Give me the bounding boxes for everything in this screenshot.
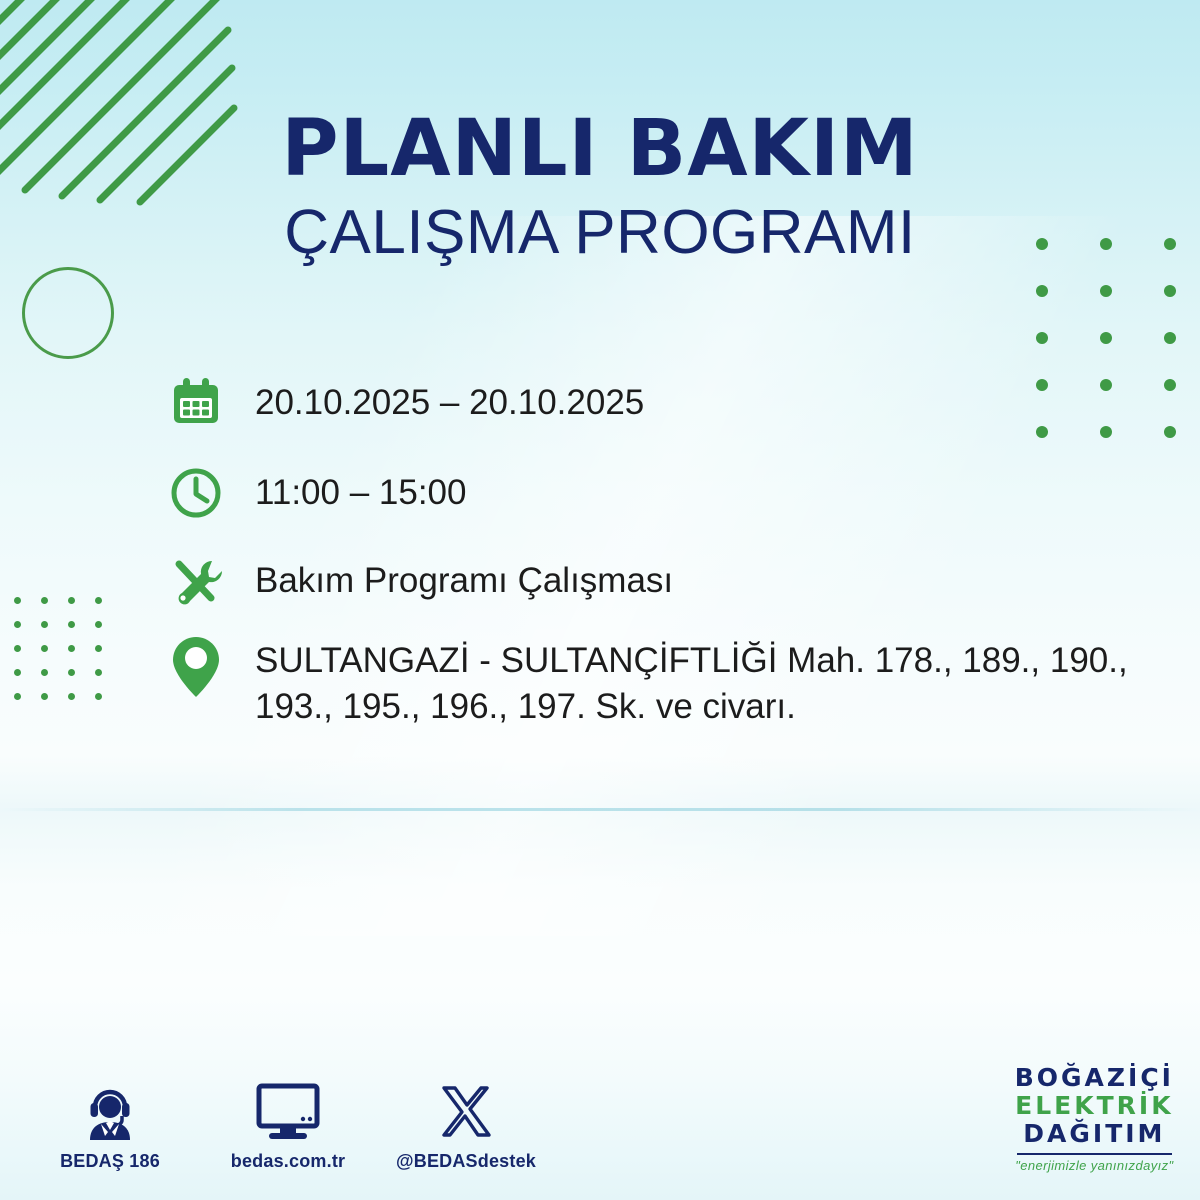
x-twitter-icon: [396, 1079, 536, 1141]
tools-icon: [165, 550, 227, 612]
monitor-icon: [218, 1079, 358, 1141]
detail-location-text: SULTANGAZİ - SULTANÇİFTLİĞİ Mah. 178., 1…: [255, 632, 1175, 729]
contact-website[interactable]: bedas.com.tr: [218, 1079, 358, 1172]
location-pin-icon: [165, 632, 227, 702]
contact-social-x[interactable]: @BEDASdestek: [396, 1079, 536, 1172]
detail-row-time: 11:00 – 15:00: [165, 462, 1175, 524]
planned-maintenance-poster: PLANLI BAKIM ÇALIŞMA PROGRAMI: [0, 0, 1200, 1200]
contact-website-label: bedas.com.tr: [218, 1151, 358, 1172]
clock-icon: [165, 462, 227, 524]
logo-line-dagitim: DAĞITIM: [1015, 1121, 1174, 1146]
detail-row-date: 20.10.2025 – 20.10.2025: [165, 372, 1175, 434]
calendar-icon: [165, 372, 227, 434]
footer-contacts: BEDAŞ 186 bedas.com.tr @BEDASdestek: [40, 1079, 536, 1172]
contact-call-center[interactable]: BEDAŞ 186: [40, 1079, 180, 1172]
dot-grid-left-decoration: [14, 597, 122, 717]
detail-date-text: 20.10.2025 – 20.10.2025: [255, 372, 644, 426]
background-divider-band: [0, 808, 1200, 811]
detail-time-text: 11:00 – 15:00: [255, 462, 467, 516]
contact-social-x-label: @BEDASdestek: [396, 1151, 536, 1172]
page-title: PLANLI BAKIM: [0, 110, 1200, 188]
contact-call-center-label: BEDAŞ 186: [40, 1151, 180, 1172]
detail-row-work-type: Bakım Programı Çalışması: [165, 550, 1175, 612]
maintenance-details-list: 20.10.2025 – 20.10.2025 11:00 – 15:00: [165, 372, 1175, 747]
page-subtitle: ÇALIŞMA PROGRAMI: [0, 202, 1200, 264]
logo-tagline: "enerjimizle yanınızdayız": [1015, 1159, 1174, 1172]
circle-outline-decoration: [22, 267, 114, 359]
logo-line-elektrik: ELEKTRİK: [1015, 1093, 1174, 1118]
logo-divider: [1017, 1153, 1172, 1155]
headset-agent-icon: [40, 1079, 180, 1141]
detail-row-location: SULTANGAZİ - SULTANÇİFTLİĞİ Mah. 178., 1…: [165, 632, 1175, 729]
detail-work-type-text: Bakım Programı Çalışması: [255, 550, 673, 604]
logo-line-bogazici: BOĞAZİÇİ: [1015, 1065, 1174, 1090]
company-logo: BOĞAZİÇİ ELEKTRİK DAĞITIM "enerjimizle y…: [1015, 1065, 1174, 1172]
poster-header: PLANLI BAKIM ÇALIŞMA PROGRAMI: [0, 110, 1200, 264]
